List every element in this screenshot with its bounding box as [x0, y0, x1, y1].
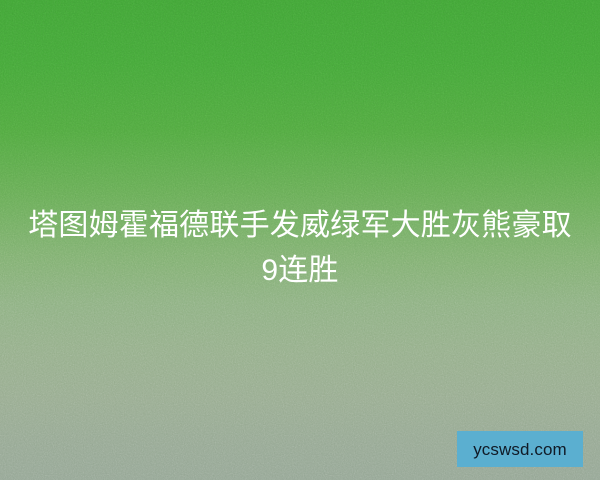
watermark-label: ycswsd.com [473, 441, 567, 458]
watermark-badge: ycswsd.com [457, 431, 583, 467]
page-title-line-2: 9连胜 [22, 248, 578, 293]
screenshot-canvas: 塔图姆霍福德联手发威绿军大胜灰熊豪取 9连胜 ycswsd.com [0, 0, 600, 480]
page-title-line-1: 塔图姆霍福德联手发威绿军大胜灰熊豪取 [22, 203, 578, 248]
page-title: 塔图姆霍福德联手发威绿军大胜灰熊豪取 9连胜 [22, 203, 578, 293]
